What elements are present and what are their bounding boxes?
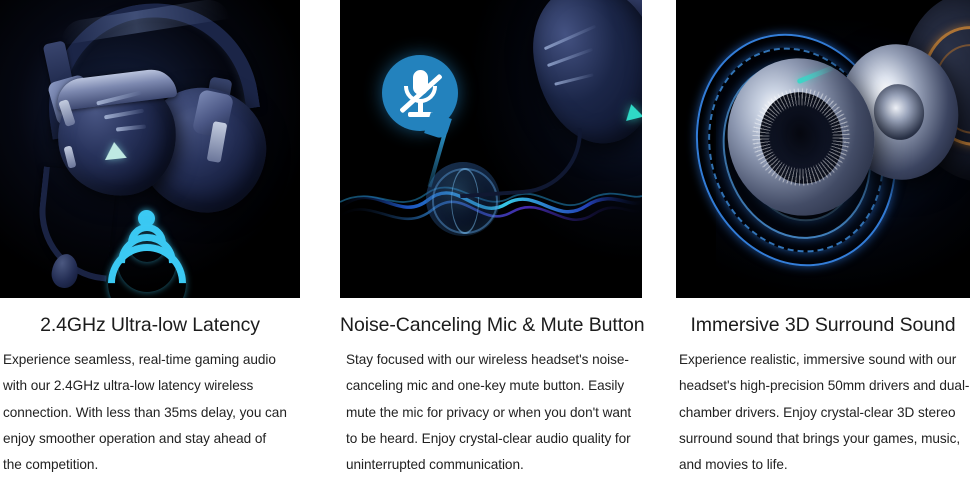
- feature-body-mic-mute: Stay focused with our wireless headset's…: [340, 337, 642, 477]
- feature-heading-surround: Immersive 3D Surround Sound: [676, 298, 970, 337]
- feature-column-latency: 2.4GHz Ultra-low Latency Experience seam…: [0, 0, 300, 492]
- mic-base-glyph: [408, 112, 433, 117]
- feature-body-surround: Experience realistic, immersive sound wi…: [676, 337, 970, 477]
- feature-image-mic-mute: [340, 0, 642, 298]
- feature-heading-latency: 2.4GHz Ultra-low Latency: [0, 298, 300, 337]
- mic-mute-icon: [382, 55, 458, 131]
- wifi-signal-icon: [112, 206, 198, 284]
- feature-image-latency: [0, 0, 300, 298]
- feature-grid-page: 2.4GHz Ultra-low Latency Experience seam…: [0, 0, 970, 492]
- feature-column-mic-mute: Noise-Canceling Mic & Mute Button Stay f…: [340, 0, 642, 492]
- accent-triangle-icon: [103, 141, 127, 160]
- feature-image-surround: [676, 0, 970, 298]
- feature-body-latency: Experience seamless, real-time gaming au…: [0, 337, 300, 477]
- feature-column-surround: Immersive 3D Surround Sound Experience r…: [676, 0, 970, 492]
- feature-heading-mic-mute: Noise-Canceling Mic & Mute Button: [340, 298, 642, 337]
